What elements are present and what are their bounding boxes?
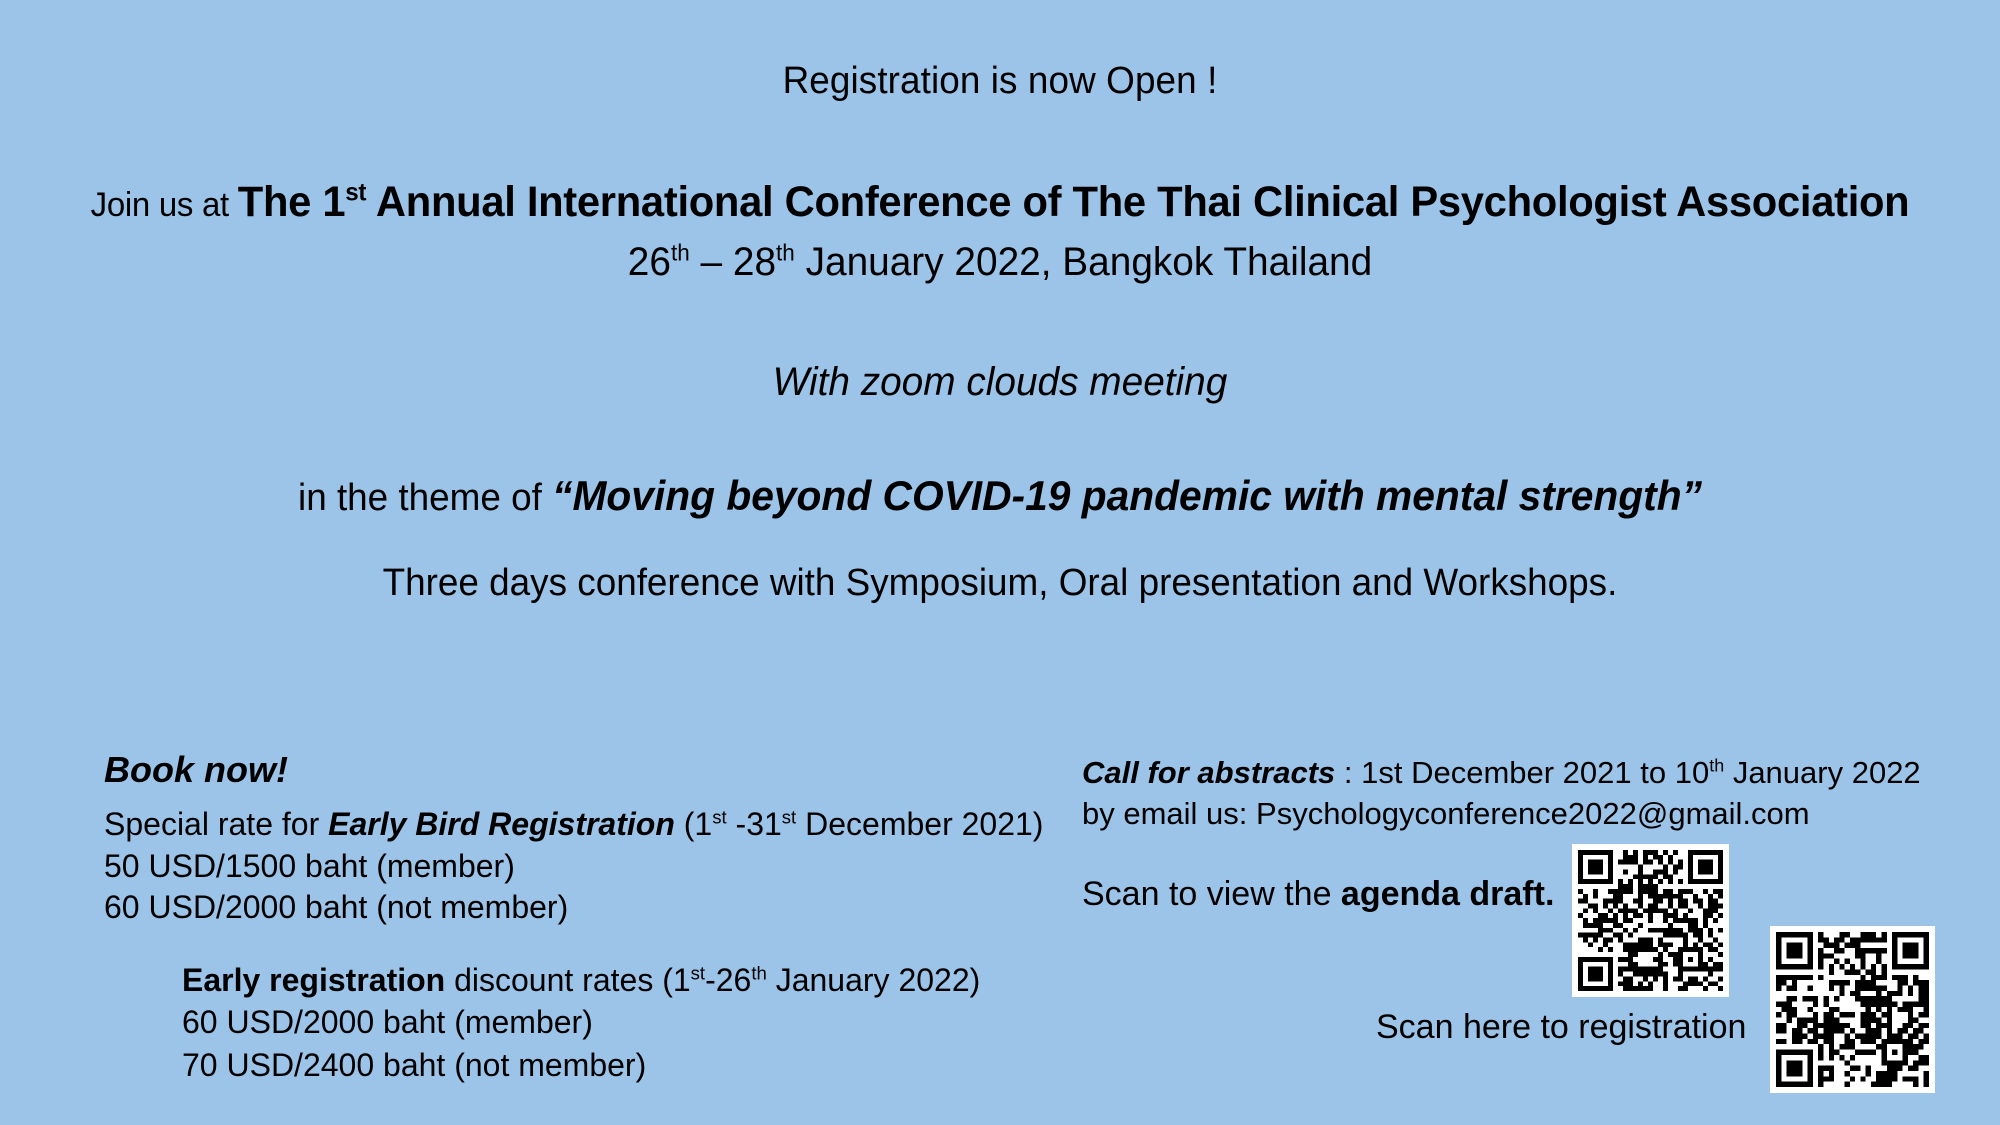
early-bird-mid: -31 [727,806,782,842]
scan-agenda-lead: Scan to view the [1082,875,1341,913]
registration-open-text: Registration is now Open ! [783,60,1218,102]
date-day-to: 28 [733,240,776,284]
call-for-abstracts-label: Call for abstracts [1082,755,1335,790]
booking-column: Book now! Special rate for Early Bird Re… [104,752,1044,1086]
conference-format-line: Three days conference with Symposium, Or… [383,562,1618,605]
early-registration-rate-member-text: 60 USD/2000 baht (member) [182,1004,593,1040]
early-bird-rate-nonmember: 60 USD/2000 baht (not member) [104,887,1044,929]
date-month-year-location: January 2022, Bangkok Thailand [795,240,1372,284]
early-bird-ordinal-2: st [782,806,796,827]
call-for-abstracts-dates-post: January 2022 [1724,755,1920,790]
book-now-heading: Book now! [104,752,1044,788]
date-range-dash: – [690,240,733,284]
scan-registration-caption: Scan here to registration [1376,1008,1746,1047]
qr-code-icon-agenda[interactable] [1572,844,1729,997]
join-us-lead: Join us at [91,186,238,224]
meeting-platform-text: With zoom clouds meeting [773,360,1228,404]
date-day-to-ordinal: th [776,240,795,266]
conference-format-text: Three days conference with Symposium, Or… [383,562,1618,604]
early-bird-paren-open: (1 [675,806,712,842]
conference-title-pre: The 1 [238,178,345,226]
scan-registration-text: Scan here to registration [1376,1008,1746,1046]
early-registration-label: Early registration [182,962,445,998]
conference-title-line: Join us at The 1st Annual International … [91,178,1910,227]
early-registration-ordinal-1: st [691,962,705,983]
early-bird-rate-member-text: 50 USD/1500 baht (member) [104,848,515,884]
early-registration-lead: discount rates (1 [445,962,690,998]
early-bird-label: Early Bird Registration [328,806,675,842]
early-bird-rate-member: 50 USD/1500 baht (member) [104,846,1044,888]
early-bird-ordinal-1: st [712,806,726,827]
early-bird-paren-close: December 2021) [796,806,1043,842]
conference-title-ordinal: st [345,179,366,207]
qr-code-icon-registration[interactable] [1770,926,1935,1093]
book-now-text: Book now! [104,749,288,790]
abstracts-email-text[interactable]: by email us: Psychologyconference2022@gm… [1082,796,1810,831]
abstracts-email-line[interactable]: by email us: Psychologyconference2022@gm… [1082,793,1982,834]
early-bird-lead: Special rate for [104,806,328,842]
meeting-platform-line: With zoom clouds meeting [773,360,1228,405]
early-bird-rate-nonmember-text: 60 USD/2000 baht (not member) [104,889,568,925]
call-for-abstracts-ordinal: th [1709,756,1724,776]
early-registration-rate-nonmember: 70 USD/2400 baht (not member) [182,1044,1044,1087]
theme-quote: “Moving beyond COVID-19 pandemic with me… [552,472,1702,519]
early-registration-rate-member: 60 USD/2000 baht (member) [182,1001,1044,1044]
conference-poster: Registration is now Open ! Join us at Th… [0,0,2000,1125]
qr-code-icon[interactable] [1776,932,1929,1087]
early-registration-block: Early registration discount rates (1st-2… [104,959,1044,1087]
early-registration-ordinal-2: th [751,962,766,983]
conference-title-post: Annual International Conference of The T… [366,178,1909,226]
conference-date-location: 26th – 28th January 2022, Bangkok Thaila… [628,240,1372,285]
date-day-from-ordinal: th [671,240,690,266]
early-registration-rate-nonmember-text: 70 USD/2400 baht (not member) [182,1047,646,1083]
scan-agenda-label: agenda draft. [1341,875,1554,913]
call-for-abstracts-line: Call for abstracts : 1st December 2021 t… [1082,752,1982,793]
registration-open-headline: Registration is now Open ! [783,60,1218,103]
conference-title: The 1st Annual International Conference … [238,178,1910,226]
call-for-abstracts-dates-pre: : 1st December 2021 to 10 [1335,755,1709,790]
date-day-from: 26 [628,240,671,284]
early-registration-heading: Early registration discount rates (1st-2… [182,959,1044,1002]
abstracts-column: Call for abstracts : 1st December 2021 t… [1082,752,1982,834]
conference-theme-line: in the theme of “Moving beyond COVID-19 … [298,472,1702,520]
theme-lead: in the theme of [298,477,552,519]
scan-agenda-caption: Scan to view the agenda draft. [1082,875,1554,914]
early-registration-close: January 2022) [767,962,980,998]
qr-code-icon[interactable] [1578,850,1723,991]
early-registration-mid: -26 [705,962,751,998]
early-bird-heading: Special rate for Early Bird Registration… [104,804,1044,846]
